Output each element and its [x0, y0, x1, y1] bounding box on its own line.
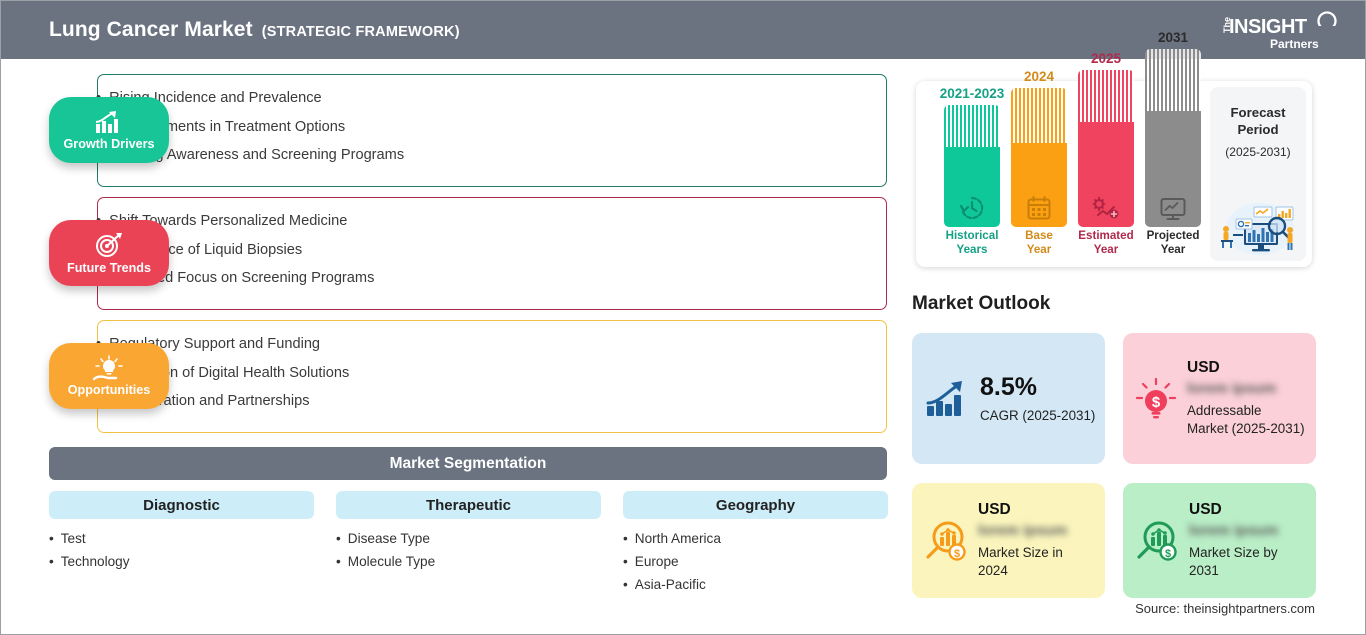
outlook-card-cagr[interactable]: 8.5% CAGR (2025-2031) — [912, 333, 1105, 464]
market-segmentation-header: Market Segmentation — [49, 447, 887, 480]
segmentation-items: Test Technology — [49, 531, 314, 571]
timeline-bar-stripes — [1078, 70, 1134, 122]
segmentation-chip[interactable]: Geography — [623, 491, 888, 519]
cagr-value: 8.5% — [980, 375, 1095, 400]
pill-label: Growth Drivers — [64, 138, 155, 151]
hidden-value: lorem ipsum — [978, 523, 1096, 540]
market-outlook-title: Market Outlook — [912, 293, 1050, 315]
svg-text:$: $ — [954, 548, 960, 560]
currency-label: USD — [978, 502, 1096, 518]
outlook-card-market-size-2031[interactable]: $ USD lorem ipsum Market Size by 2031 — [1123, 483, 1316, 598]
header-title-group: Lung Cancer Market (STRATEGIC FRAMEWORK) — [49, 18, 460, 42]
svg-text:$: $ — [1152, 394, 1161, 411]
lightbulb-dollar-icon: $ — [1135, 377, 1177, 421]
segmentation-column-geography: Geography North America Europe Asia-Paci… — [623, 491, 888, 594]
segmentation-chip-label: Geography — [716, 497, 795, 514]
magnifier-bar-chart-dollar-icon: $ — [1135, 520, 1179, 562]
outlook-card-addressable-market[interactable]: $ USD lorem ipsum Addressable Market (20… — [1123, 333, 1316, 464]
target-dart-icon — [94, 232, 124, 259]
forecast-gear-chart-icon — [1092, 195, 1120, 221]
page-title: Lung Cancer Market — [49, 18, 253, 42]
forecast-period-range: (2025-2031) — [1225, 145, 1290, 159]
pill-future-trends[interactable]: Future Trends — [49, 220, 169, 286]
svg-text:INSIGHT: INSIGHT — [1229, 16, 1307, 38]
segmentation-chip[interactable]: Diagnostic — [49, 491, 314, 519]
lightbulb-in-hand-icon — [92, 355, 126, 381]
segmentation-column-therapeutic: Therapeutic Disease Type Molecule Type — [336, 491, 601, 571]
svg-text:Partners: Partners — [1270, 37, 1319, 51]
pill-label: Future Trends — [67, 262, 151, 275]
timeline-bar-stripes — [944, 105, 1000, 147]
timeline-year-label: 2021-2023 — [940, 86, 1005, 101]
outlook-card-body: 8.5% CAGR (2025-2031) — [980, 375, 1095, 423]
outlook-card-body: USD lorem ipsum Market Size by 2031 — [1189, 502, 1307, 579]
timeline-bar-stripes — [1011, 88, 1067, 143]
cagr-caption: CAGR (2025-2031) — [980, 408, 1095, 423]
source-attribution: Source: theinsightpartners.com — [1135, 601, 1315, 616]
hidden-value: lorem ipsum — [1189, 523, 1307, 540]
monitor-chart-icon — [1160, 197, 1187, 221]
bar-chart-arrow-icon — [924, 379, 970, 419]
history-clock-icon — [959, 195, 985, 221]
list-item: Technology — [49, 554, 314, 571]
outlook-card-caption: Market Size in 2024 — [978, 544, 1096, 579]
timeline-caption: Projected Year — [1147, 229, 1200, 257]
list-item: Test — [49, 531, 314, 548]
segmentation-column-diagnostic: Diagnostic Test Technology — [49, 491, 314, 571]
segmentation-chip[interactable]: Therapeutic — [336, 491, 601, 519]
forecast-period-title: Forecast Period — [1231, 105, 1286, 138]
timeline-year-label: 2024 — [1024, 69, 1054, 84]
list-item: Disease Type — [336, 531, 601, 548]
infographic-page: Lung Cancer Market (STRATEGIC FRAMEWORK)… — [0, 0, 1366, 635]
the-insight-partners-logo: The INSIGHT Partners — [1215, 8, 1345, 52]
outlook-card-market-size-2024[interactable]: $ USD lorem ipsum Market Size in 2024 — [912, 483, 1105, 598]
list-item: North America — [623, 531, 888, 548]
outlook-card-body: USD lorem ipsum Market Size in 2024 — [978, 502, 1096, 579]
calendar-icon — [1026, 195, 1052, 221]
timeline-caption: Estimated Year — [1078, 229, 1133, 257]
data-analytics-illustration — [1214, 199, 1302, 255]
timeline-caption: Historical Years — [946, 229, 999, 257]
segmentation-items: Disease Type Molecule Type — [336, 531, 601, 571]
segmentation-chip-label: Diagnostic — [143, 497, 220, 514]
hidden-value: lorem ipsum — [1187, 381, 1305, 398]
magnifier-bar-chart-dollar-icon: $ — [924, 520, 968, 562]
svg-text:$: $ — [1165, 548, 1171, 560]
timeline-year-label: 2025 — [1091, 51, 1121, 66]
outlook-card-body: USD lorem ipsum Addressable Market (2025… — [1187, 360, 1305, 437]
timeline-bar-stripes — [1145, 49, 1201, 111]
currency-label: USD — [1187, 360, 1305, 376]
timeline-year-label: 2031 — [1158, 30, 1188, 45]
segmentation-chip-label: Therapeutic — [426, 497, 511, 514]
market-segmentation-title: Market Segmentation — [390, 455, 547, 473]
list-item: Molecule Type — [336, 554, 601, 571]
list-item: Europe — [623, 554, 888, 571]
pill-growth-drivers[interactable]: Growth Drivers — [49, 97, 169, 163]
bar-chart-growth-icon — [92, 109, 126, 135]
segmentation-items: North America Europe Asia-Pacific — [623, 531, 888, 594]
timeline-panel: 2021-2023 Historical Years 2024 — [916, 81, 1312, 267]
list-item: Asia-Pacific — [623, 577, 888, 594]
outlook-card-caption: Market Size by 2031 — [1189, 544, 1307, 579]
page-subtitle: (STRATEGIC FRAMEWORK) — [262, 24, 460, 40]
pill-label: Opportunities — [68, 384, 151, 397]
timeline-bars: 2021-2023 Historical Years 2024 — [932, 81, 1207, 267]
currency-label: USD — [1189, 502, 1307, 518]
timeline-caption: Base Year — [1025, 229, 1053, 257]
pill-opportunities[interactable]: Opportunities — [49, 343, 169, 409]
outlook-card-caption: Addressable Market (2025-2031) — [1187, 402, 1305, 437]
forecast-period-panel: Forecast Period (2025-2031) — [1210, 87, 1306, 261]
